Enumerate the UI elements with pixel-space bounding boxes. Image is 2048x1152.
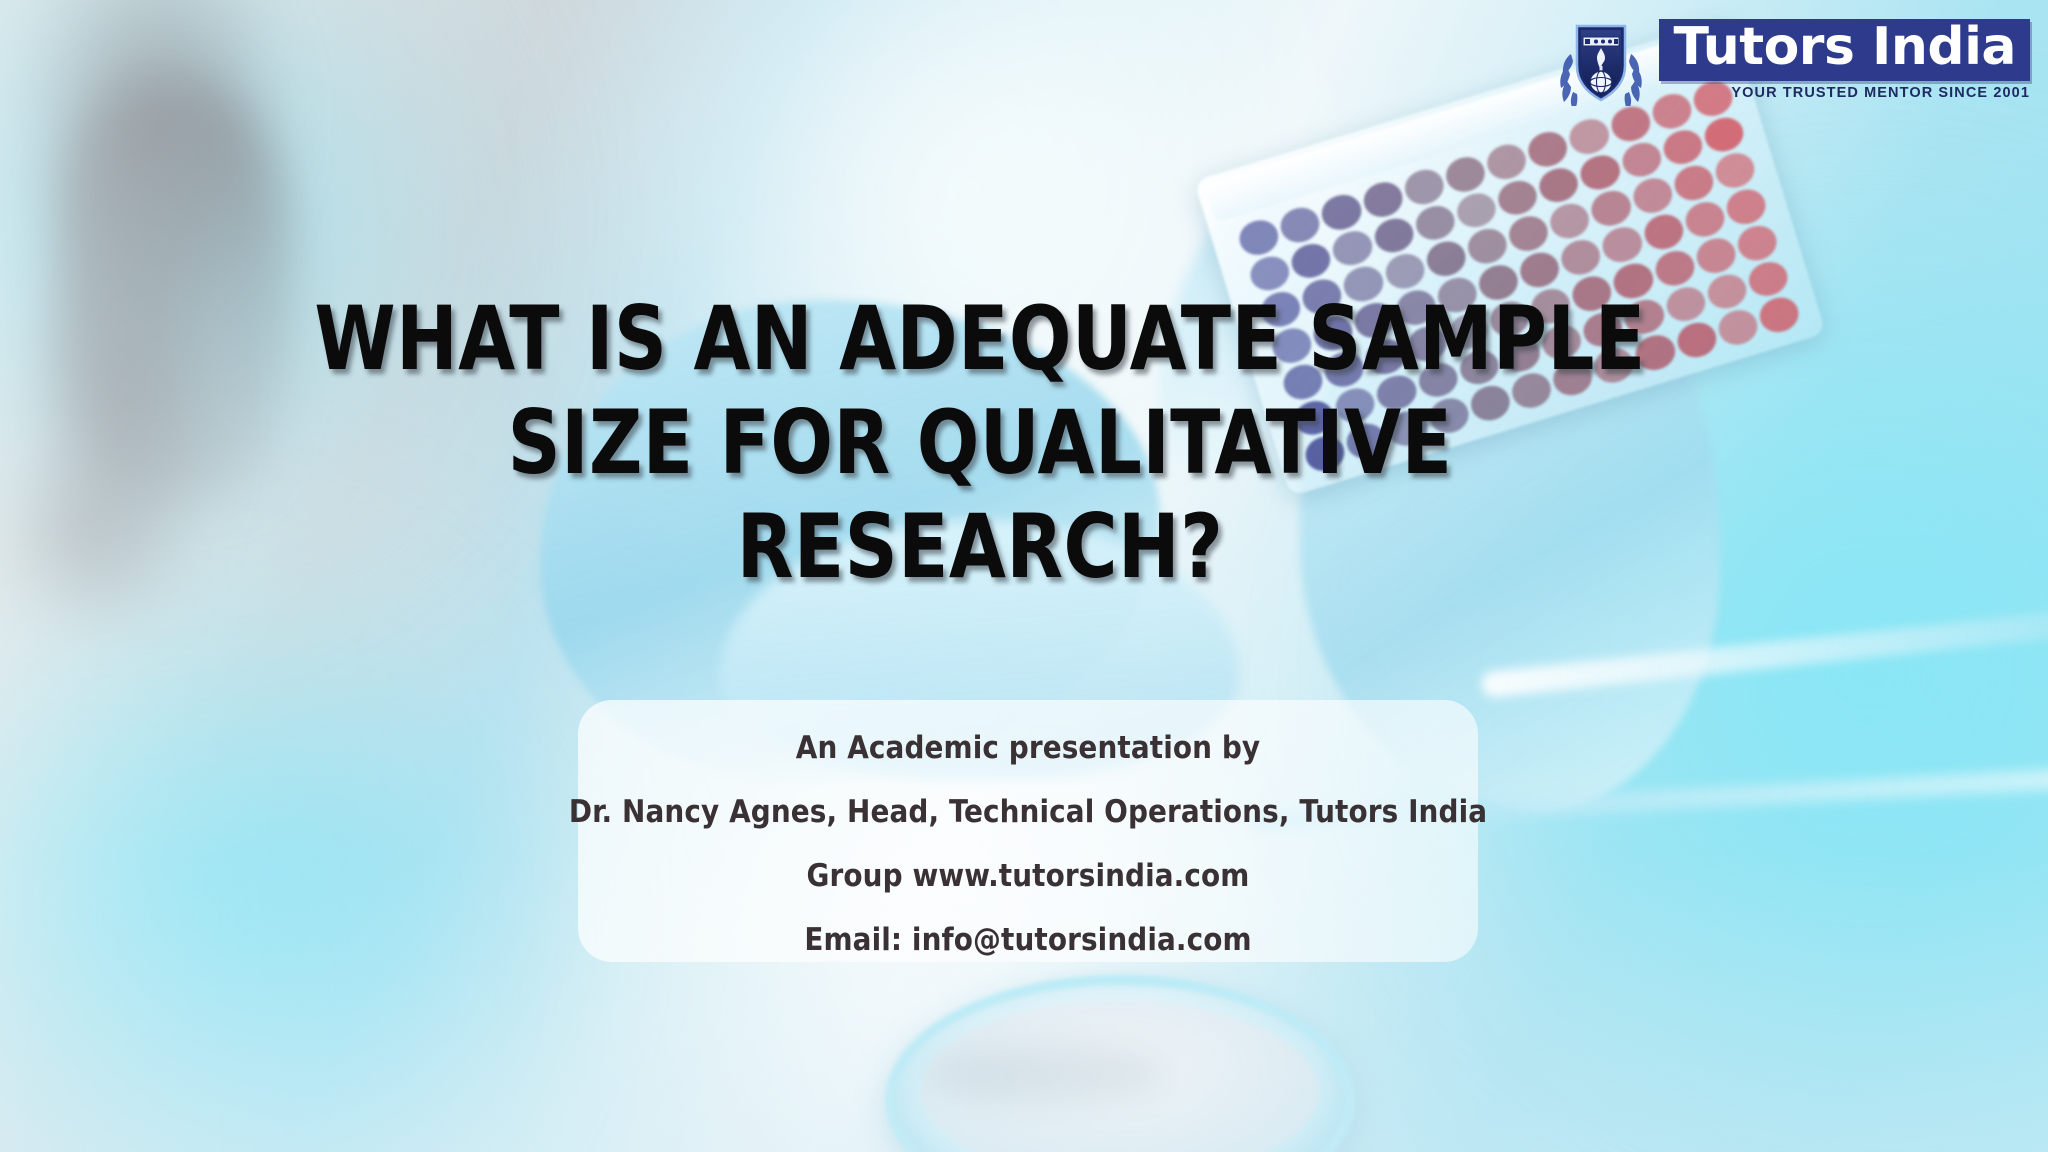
microplate-well <box>1370 214 1417 258</box>
detail-line-1: An Academic presentation by <box>478 716 1578 780</box>
microplate-well <box>1557 235 1604 279</box>
detail-line-2: Dr. Nancy Agnes, Head, Technical Operati… <box>478 780 1578 844</box>
logo-wordmark: Tutors India YOUR TRUSTED MENTOR SINCE 2… <box>1659 19 2030 100</box>
microplate-well <box>1692 234 1739 278</box>
microplate-well <box>1629 174 1676 218</box>
microplate-well <box>1576 151 1623 195</box>
microplate-well <box>1411 201 1458 245</box>
microplate-well <box>1422 237 1469 281</box>
brand-logo[interactable]: Tutors India YOUR TRUSTED MENTOR SINCE 2… <box>1557 14 2030 106</box>
microplate-well <box>1681 198 1728 242</box>
microplate-well <box>1651 246 1698 290</box>
detail-line-3: Group www.tutorsindia.com <box>478 844 1578 908</box>
page-title: WHAT IS AN ADEQUATE SAMPLE SIZE FOR QUAL… <box>217 287 1742 598</box>
microplate-well <box>1464 225 1511 269</box>
microplate-well <box>1329 226 1376 270</box>
presentation-slide: Tutors India YOUR TRUSTED MENTOR SINCE 2… <box>0 0 2048 1152</box>
detail-line-4: Email: info@tutorsindia.com <box>478 908 1578 972</box>
microplate-well <box>1453 189 1500 233</box>
microplate-well <box>1640 210 1687 254</box>
microplate-well <box>1599 223 1646 267</box>
logo-name: Tutors India <box>1673 21 2016 74</box>
microplate-well <box>1588 187 1635 231</box>
microplate-well <box>1659 125 1706 169</box>
microplate-well <box>1288 239 1335 283</box>
title-line-3: RESEARCH? <box>217 495 1742 599</box>
microplate-well <box>1505 212 1552 256</box>
logo-name-box: Tutors India <box>1659 19 2030 80</box>
presenter-details: An Academic presentation by Dr. Nancy Ag… <box>478 716 1578 973</box>
microplate-well <box>1546 199 1593 243</box>
title-line-1: WHAT IS AN ADEQUATE SAMPLE <box>217 287 1742 391</box>
microplate-well <box>1494 176 1541 220</box>
title-line-2: SIZE FOR QUALITATIVE <box>217 391 1742 495</box>
microplate-well <box>1670 161 1717 205</box>
logo-tagline: YOUR TRUSTED MENTOR SINCE 2001 <box>1659 85 2030 101</box>
microplate-well <box>1516 248 1563 292</box>
microplate-well <box>1618 138 1665 182</box>
microplate-well <box>1535 163 1582 207</box>
shield-laurel-icon <box>1557 14 1645 106</box>
